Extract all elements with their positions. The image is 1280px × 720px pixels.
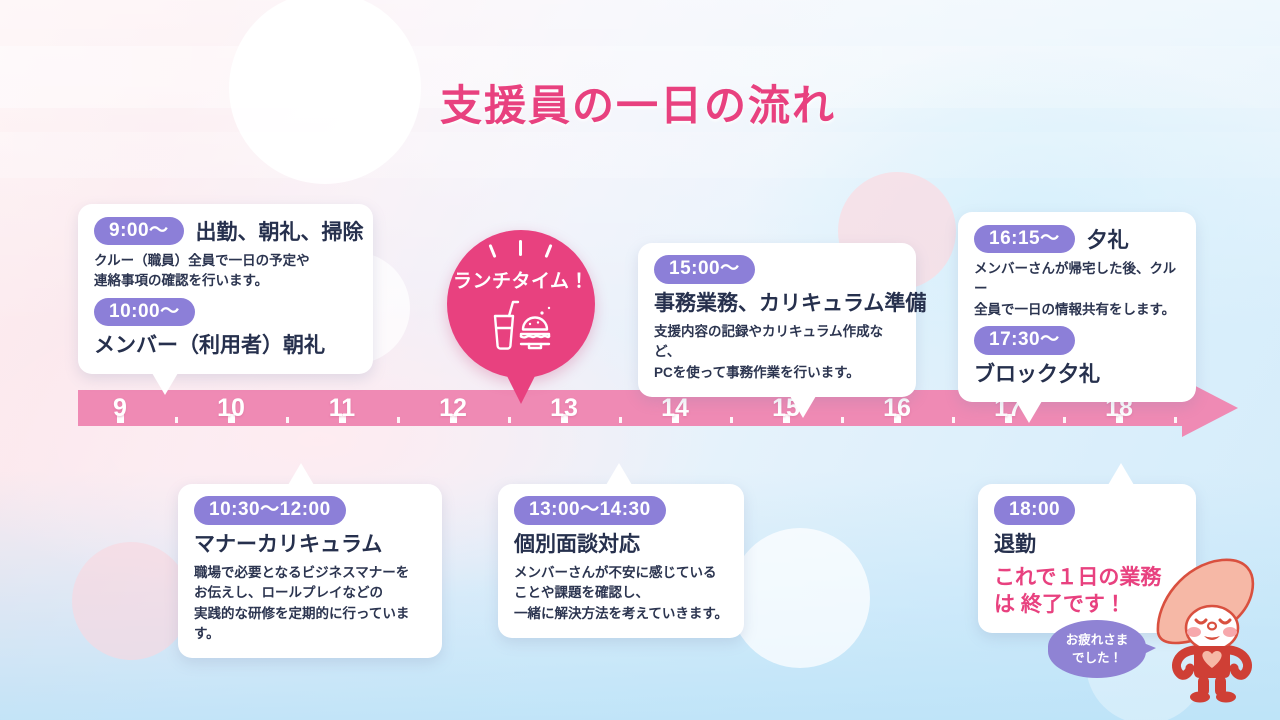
card-morning[interactable]: 9:00〜 出勤、朝礼、掃除 クルー（職員）全員で一日の予定や 連絡事項の確認を… — [78, 204, 373, 374]
page-title: 支援員の一日の流れ — [440, 72, 836, 133]
time-badge: 9:00〜 — [94, 217, 184, 246]
hour-label-13: 13 — [550, 394, 578, 423]
hour-label-11: 11 — [329, 394, 355, 423]
sparkle-icon — [488, 244, 496, 258]
lunch-bubble[interactable]: ランチタイム！ — [447, 230, 595, 378]
card-leave-title: 退勤 — [994, 531, 1180, 558]
background-band-lower — [0, 132, 1280, 178]
tick-minor — [508, 417, 511, 423]
tick-minor — [841, 417, 844, 423]
card-office[interactable]: 15:00〜 事務業務、カリキュラム準備 支援内容の記録やカリキュラム作成など、… — [638, 243, 916, 397]
hour-label-10: 10 — [217, 394, 245, 423]
sparkle-icon — [519, 240, 522, 256]
infographic-stage: 支援員の一日の流れ 9101112131415161718 9:00〜 出勤、朝… — [0, 0, 1280, 720]
lunch-label: ランチタイム！ — [447, 266, 595, 293]
sparkle-icon — [544, 244, 552, 258]
hour-label-12: 12 — [439, 394, 467, 423]
tick-minor — [952, 417, 955, 423]
card-leave-header: 18:00 — [994, 496, 1180, 525]
card-evening-title: 夕礼 — [1087, 224, 1129, 254]
card-tail — [1016, 401, 1042, 423]
card-office-title: 事務業務、カリキュラム準備 — [654, 290, 900, 317]
card-tail — [152, 373, 178, 395]
hour-label-14: 14 — [661, 394, 689, 423]
card-evening-header-2: 17:30〜 — [974, 326, 1180, 355]
time-badge: 13:00〜14:30 — [514, 496, 666, 525]
decor-circle-4 — [72, 542, 190, 660]
card-morning-header: 9:00〜 出勤、朝礼、掃除 — [94, 216, 357, 246]
tick-minor — [730, 417, 733, 423]
card-office-body: 支援内容の記録やカリキュラム作成など、 PCを使って事務作業を行います。 — [654, 322, 900, 383]
card-evening-header: 16:15〜 夕礼 — [974, 224, 1180, 254]
burger-drink-icon — [485, 298, 557, 359]
tick-minor — [1063, 417, 1066, 423]
card-tail — [1108, 463, 1134, 485]
decor-circle-1 — [229, 0, 421, 184]
mascot-character — [1150, 556, 1260, 706]
card-morning-body: クルー（職員）全員で一日の予定や 連絡事項の確認を行います。 — [94, 251, 357, 292]
card-tail — [288, 463, 314, 485]
card-tail — [606, 463, 632, 485]
card-manner[interactable]: 10:30〜12:00 マナーカリキュラム 職場で必要となるビジネスマナーを お… — [178, 484, 442, 658]
card-evening-body: メンバーさんが帰宅した後、クルー 全員で一日の情報共有をします。 — [974, 259, 1180, 320]
tick-minor — [1174, 417, 1177, 423]
lunch-bubble-tail — [504, 370, 538, 404]
mascot-speech-text: お疲れさま でした！ — [1048, 620, 1146, 678]
card-interview-body: メンバーさんが不安に感じている ことや課題を確認し、 一緒に解決方法を考えていき… — [514, 563, 728, 624]
time-badge-secondary: 10:00〜 — [94, 298, 195, 327]
card-tail — [790, 396, 816, 418]
card-evening[interactable]: 16:15〜 夕礼 メンバーさんが帰宅した後、クルー 全員で一日の情報共有をしま… — [958, 212, 1196, 402]
card-interview-header: 13:00〜14:30 — [514, 496, 728, 525]
mascot-speech-bubble: お疲れさま でした！ — [1048, 620, 1146, 678]
time-badge-secondary: 17:30〜 — [974, 326, 1075, 355]
tick-minor — [619, 417, 622, 423]
card-manner-body: 職場で必要となるビジネスマナーを お伝えし、ロールプレイなどの 実践的な研修を定… — [194, 563, 426, 644]
hour-label-16: 16 — [883, 394, 911, 423]
tick-minor — [397, 417, 400, 423]
card-office-header: 15:00〜 — [654, 255, 900, 284]
card-morning-title: 出勤、朝礼、掃除 — [196, 216, 364, 246]
card-evening-title-2: ブロック夕礼 — [974, 361, 1180, 388]
time-badge: 16:15〜 — [974, 225, 1075, 254]
time-badge: 10:30〜12:00 — [194, 496, 346, 525]
card-interview[interactable]: 13:00〜14:30 個別面談対応 メンバーさんが不安に感じている ことや課題… — [498, 484, 744, 638]
tick-minor — [286, 417, 289, 423]
card-manner-title: マナーカリキュラム — [194, 531, 426, 558]
card-interview-title: 個別面談対応 — [514, 531, 728, 558]
time-badge: 15:00〜 — [654, 255, 755, 284]
card-morning-title-2: メンバー（利用者）朝礼 — [94, 332, 357, 359]
card-manner-header: 10:30〜12:00 — [194, 496, 426, 525]
time-badge: 18:00 — [994, 496, 1075, 525]
decor-circle-5 — [730, 528, 870, 668]
hour-label-9: 9 — [113, 394, 127, 423]
card-morning-header-2: 10:00〜 — [94, 298, 357, 327]
tick-minor — [175, 417, 178, 423]
